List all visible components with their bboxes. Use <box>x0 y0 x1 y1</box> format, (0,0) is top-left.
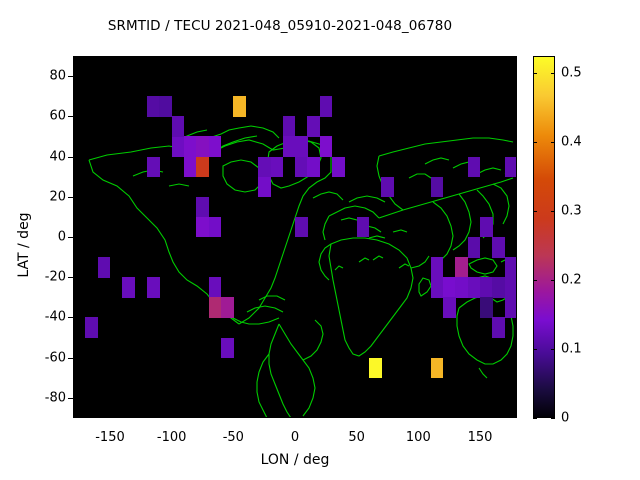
colorbar-tick-mark <box>551 73 555 74</box>
heatmap-cell <box>381 177 394 198</box>
heatmap-cell <box>505 277 517 298</box>
heatmap-cell <box>307 157 320 178</box>
heatmap-cell <box>283 116 296 137</box>
heatmap-cell <box>172 116 185 137</box>
heatmap-cell <box>159 96 172 117</box>
heatmap-cell <box>505 157 517 178</box>
heatmap-cell <box>480 217 493 238</box>
heatmap-cell <box>172 136 185 157</box>
colorbar-tick-label: 0.2 <box>561 273 621 288</box>
colorbar-ticks: 00.10.20.30.40.5 <box>533 56 633 418</box>
heatmap-cell <box>480 297 493 318</box>
y-tick-mark <box>68 317 73 318</box>
colorbar-tick-label: 0.4 <box>561 135 621 150</box>
heatmap-cell <box>455 257 468 278</box>
x-tick-label: 0 <box>260 430 330 445</box>
heatmap-cell <box>505 297 517 318</box>
colorbar-tick-mark <box>533 73 537 74</box>
y-tick-label: -80 <box>4 390 66 405</box>
heatmap-cell <box>480 277 493 298</box>
colorbar-tick-mark <box>533 142 537 143</box>
y-tick-label: 80 <box>4 69 66 84</box>
y-tick-mark <box>68 358 73 359</box>
figure-canvas: SRMTID / TECU 2021-048_05910-2021-048_06… <box>0 0 640 480</box>
heatmap-cell <box>209 277 222 298</box>
colorbar-tick-mark <box>533 280 537 281</box>
heatmap-cell <box>357 217 370 238</box>
y-tick-mark <box>68 237 73 238</box>
x-tick-label: -150 <box>75 430 145 445</box>
y-tick-label: -20 <box>4 270 66 285</box>
heatmap-cell <box>431 358 444 379</box>
y-tick-mark <box>68 197 73 198</box>
heatmap-cell <box>122 277 135 298</box>
heatmap-cell <box>468 277 481 298</box>
heatmap-cell <box>233 96 246 117</box>
heatmap-cell <box>196 197 209 218</box>
heatmap-cell <box>98 257 111 278</box>
heatmap-cell <box>147 157 160 178</box>
y-tick-mark <box>68 277 73 278</box>
y-tick-label: 60 <box>4 109 66 124</box>
heatmap-cell <box>209 217 222 238</box>
heatmap-cell <box>320 96 333 117</box>
y-tick-mark <box>68 76 73 77</box>
heatmap-cell <box>443 297 456 318</box>
colorbar-tick-mark <box>551 349 555 350</box>
colorbar-tick-label: 0.5 <box>561 66 621 81</box>
heatmap-cell <box>307 116 320 137</box>
heatmap-cell <box>295 157 308 178</box>
heatmap-cell <box>369 358 382 379</box>
y-tick-label: 0 <box>4 230 66 245</box>
heatmap-cell <box>196 217 209 238</box>
x-tick-label: 150 <box>445 430 515 445</box>
heatmap-cell <box>196 136 209 157</box>
colorbar-tick-label: 0.3 <box>561 204 621 219</box>
y-tick-label: -40 <box>4 310 66 325</box>
heatmap-cell <box>147 277 160 298</box>
heatmap-cell <box>209 136 222 157</box>
heatmap-cell <box>184 136 197 157</box>
x-tick-label: 100 <box>383 430 453 445</box>
y-tick-label: -60 <box>4 350 66 365</box>
heatmap-cell <box>295 136 308 157</box>
heatmap-cell <box>258 157 271 178</box>
heatmap-cell <box>468 237 481 258</box>
colorbar-tick-mark <box>551 418 555 419</box>
colorbar-tick-mark <box>551 211 555 212</box>
y-tick-mark <box>68 116 73 117</box>
map-plot-area[interactable] <box>73 56 517 418</box>
heatmap-cell <box>221 297 234 318</box>
heatmap-cell <box>320 136 333 157</box>
heatmap-cell <box>283 136 296 157</box>
x-axis-ticks: -150-100-50050100150 <box>73 426 517 446</box>
heatmap-cell <box>85 317 98 338</box>
colorbar-tick-label: 0 <box>561 411 621 426</box>
colorbar-tick-mark <box>551 142 555 143</box>
heatmap-cell <box>270 157 283 178</box>
x-tick-label: -50 <box>198 430 268 445</box>
y-tick-mark <box>68 398 73 399</box>
heatmap-cell <box>332 157 345 178</box>
heatmap-cell <box>455 277 468 298</box>
heatmap-cell <box>295 217 308 238</box>
heatmap-cell <box>258 177 271 198</box>
heatmap-cell <box>492 277 505 298</box>
colorbar-tick-label: 0.1 <box>561 342 621 357</box>
heatmap-cell <box>184 157 197 178</box>
page-title: SRMTID / TECU 2021-048_05910-2021-048_06… <box>0 18 560 34</box>
y-tick-label: 20 <box>4 189 66 204</box>
heatmap-cell <box>492 317 505 338</box>
x-axis-label: LON / deg <box>73 452 517 468</box>
colorbar-tick-mark <box>551 280 555 281</box>
heatmap-cell <box>505 257 517 278</box>
y-axis-label: LAT / deg <box>16 145 32 345</box>
heatmap-cell <box>209 297 222 318</box>
heatmap-cell <box>196 157 209 178</box>
y-tick-label: 40 <box>4 149 66 164</box>
heatmap-cell <box>492 237 505 258</box>
heatmap-cell <box>221 338 234 359</box>
colorbar-tick-mark <box>533 211 537 212</box>
colorbar-tick-mark <box>533 349 537 350</box>
y-axis-ticks: 806040200-20-40-60-80 <box>0 56 66 418</box>
heatmap-cell <box>431 177 444 198</box>
heatmap-cell <box>431 277 444 298</box>
colorbar-tick-mark <box>533 418 537 419</box>
data-cell-layer <box>73 56 517 418</box>
x-tick-label: -100 <box>137 430 207 445</box>
heatmap-cell <box>443 277 456 298</box>
y-tick-mark <box>68 157 73 158</box>
x-tick-label: 50 <box>322 430 392 445</box>
heatmap-cell <box>147 96 160 117</box>
heatmap-cell <box>431 257 444 278</box>
heatmap-cell <box>468 157 481 178</box>
